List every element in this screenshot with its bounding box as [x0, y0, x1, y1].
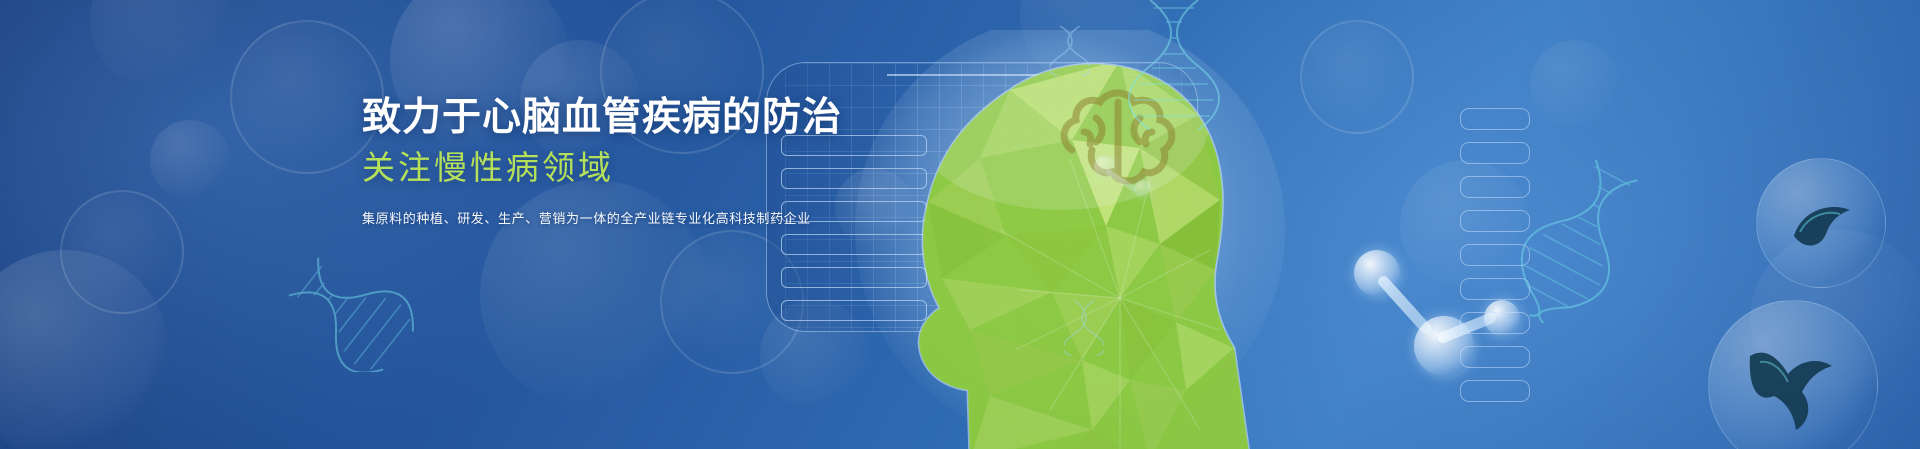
- hud-right-bar: [1460, 108, 1530, 130]
- hero-banner: 致力于心脑血管疾病的防治 关注慢性病领域 集原料的种植、研发、生产、营销为一体的…: [0, 0, 1920, 449]
- molecule-bond: [1376, 274, 1434, 336]
- dna-helix-icon: [1518, 160, 1638, 330]
- bokeh-circle: [60, 190, 184, 314]
- bokeh-circle: [1530, 40, 1620, 130]
- hud-right-bar: [1460, 142, 1530, 164]
- bacteria-icon: [1786, 196, 1862, 258]
- hud-right-bar: [1460, 244, 1530, 266]
- hud-right-bar-list: [1460, 108, 1530, 402]
- page-title: 致力于心脑血管疾病的防治: [362, 96, 782, 140]
- molecule-atom: [1354, 250, 1400, 296]
- head-graphic: [820, 30, 1340, 449]
- page-tagline: 集原料的种植、研发、生产、营销为一体的全产业链专业化高科技制药企业: [362, 209, 782, 229]
- hud-right-bar: [1460, 176, 1530, 198]
- bokeh-circle: [230, 20, 384, 174]
- bacteria-icon: [1740, 340, 1850, 436]
- page-subtitle: 关注慢性病领域: [362, 149, 782, 187]
- bokeh-circle: [0, 250, 170, 449]
- banner-copy: 致力于心脑血管疾病的防治 关注慢性病领域 集原料的种植、研发、生产、营销为一体的…: [362, 96, 782, 228]
- bokeh-circle: [90, 0, 230, 90]
- hud-right-bar: [1460, 312, 1530, 334]
- hud-right-bar: [1460, 210, 1530, 232]
- dna-helix-icon: [282, 252, 422, 372]
- low-poly-head-icon: [820, 30, 1340, 449]
- hud-right-bar: [1460, 380, 1530, 402]
- hud-right-bar: [1460, 346, 1530, 368]
- hud-right-bar: [1460, 278, 1530, 300]
- bokeh-circle: [150, 120, 230, 200]
